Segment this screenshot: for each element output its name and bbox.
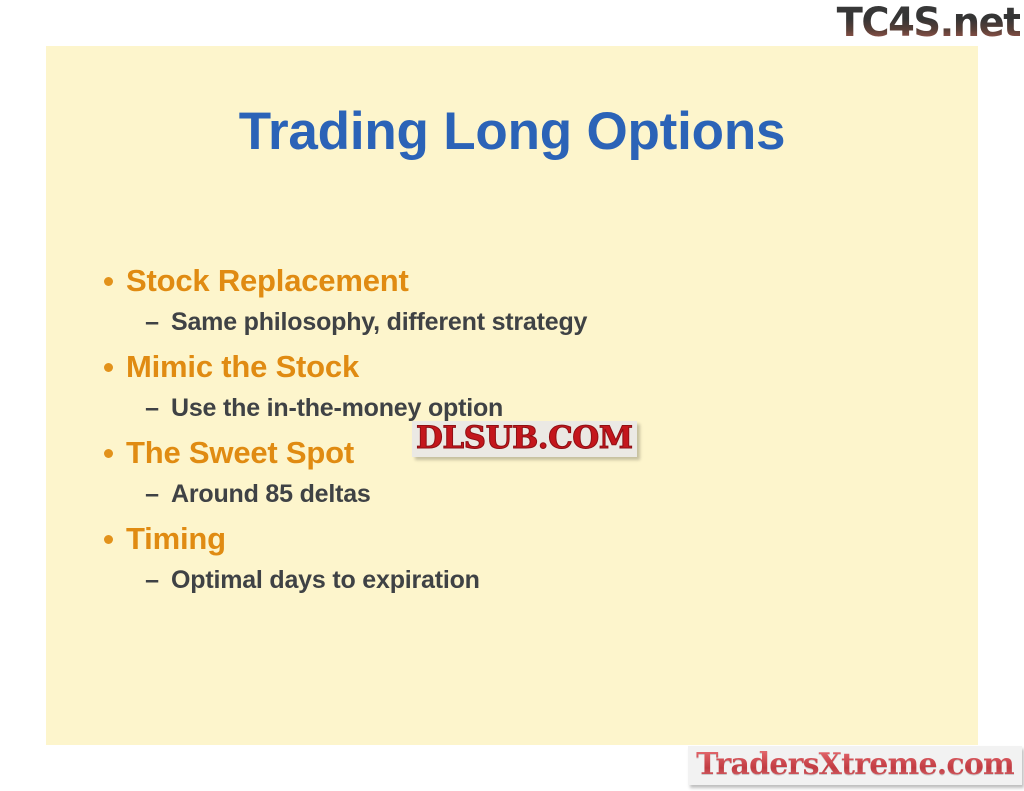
bullet-item-stock-replacement: Stock Replacement — [90, 262, 950, 304]
dash-icon: – — [90, 390, 171, 426]
bullet-group: Stock Replacement – Same philosophy, dif… — [90, 262, 950, 346]
bullet-dot-icon — [90, 520, 126, 558]
subbullet-item-stock-replacement: – Same philosophy, different strategy — [90, 304, 950, 346]
tradersxtreme-logo-label: TradersXtreme.com — [696, 747, 1014, 782]
subbullet-label: Optimal days to expiration — [171, 562, 480, 598]
bullet-item-mimic-the-stock: Mimic the Stock — [90, 348, 950, 390]
bullet-label: The Sweet Spot — [126, 434, 354, 472]
dash-icon: – — [90, 562, 171, 598]
tc4s-brand-logo: TC4S.net — [836, 1, 1020, 45]
dash-icon: – — [90, 304, 171, 340]
presentation-slide: Trading Long Options Stock Replacement –… — [46, 46, 978, 745]
bullet-dot-icon — [90, 348, 126, 386]
slide-page: TC4S.net Trading Long Options Stock Repl… — [0, 0, 1024, 791]
bullet-dot-icon — [90, 434, 126, 472]
subbullet-label: Same philosophy, different strategy — [171, 304, 587, 340]
subbullet-item-timing: – Optimal days to expiration — [90, 562, 950, 604]
watermark-label: DLSUB.COM — [416, 422, 633, 455]
dlsub-watermark: DLSUB.COM — [412, 421, 637, 457]
slide-title: Trading Long Options — [46, 104, 978, 160]
bullet-dot-icon — [90, 262, 126, 300]
tradersxtreme-brand-logo: TradersXtreme.com TradersXtreme.com — [688, 746, 1022, 785]
bullet-group: Timing – Optimal days to expiration — [90, 520, 950, 604]
subbullet-item-the-sweet-spot: – Around 85 deltas — [90, 476, 950, 518]
dash-icon: – — [90, 476, 171, 512]
bullet-label: Mimic the Stock — [126, 348, 359, 386]
bullet-label: Timing — [126, 520, 226, 558]
bullet-item-timing: Timing — [90, 520, 950, 562]
subbullet-label: Around 85 deltas — [171, 476, 371, 512]
bullet-label: Stock Replacement — [126, 262, 409, 300]
